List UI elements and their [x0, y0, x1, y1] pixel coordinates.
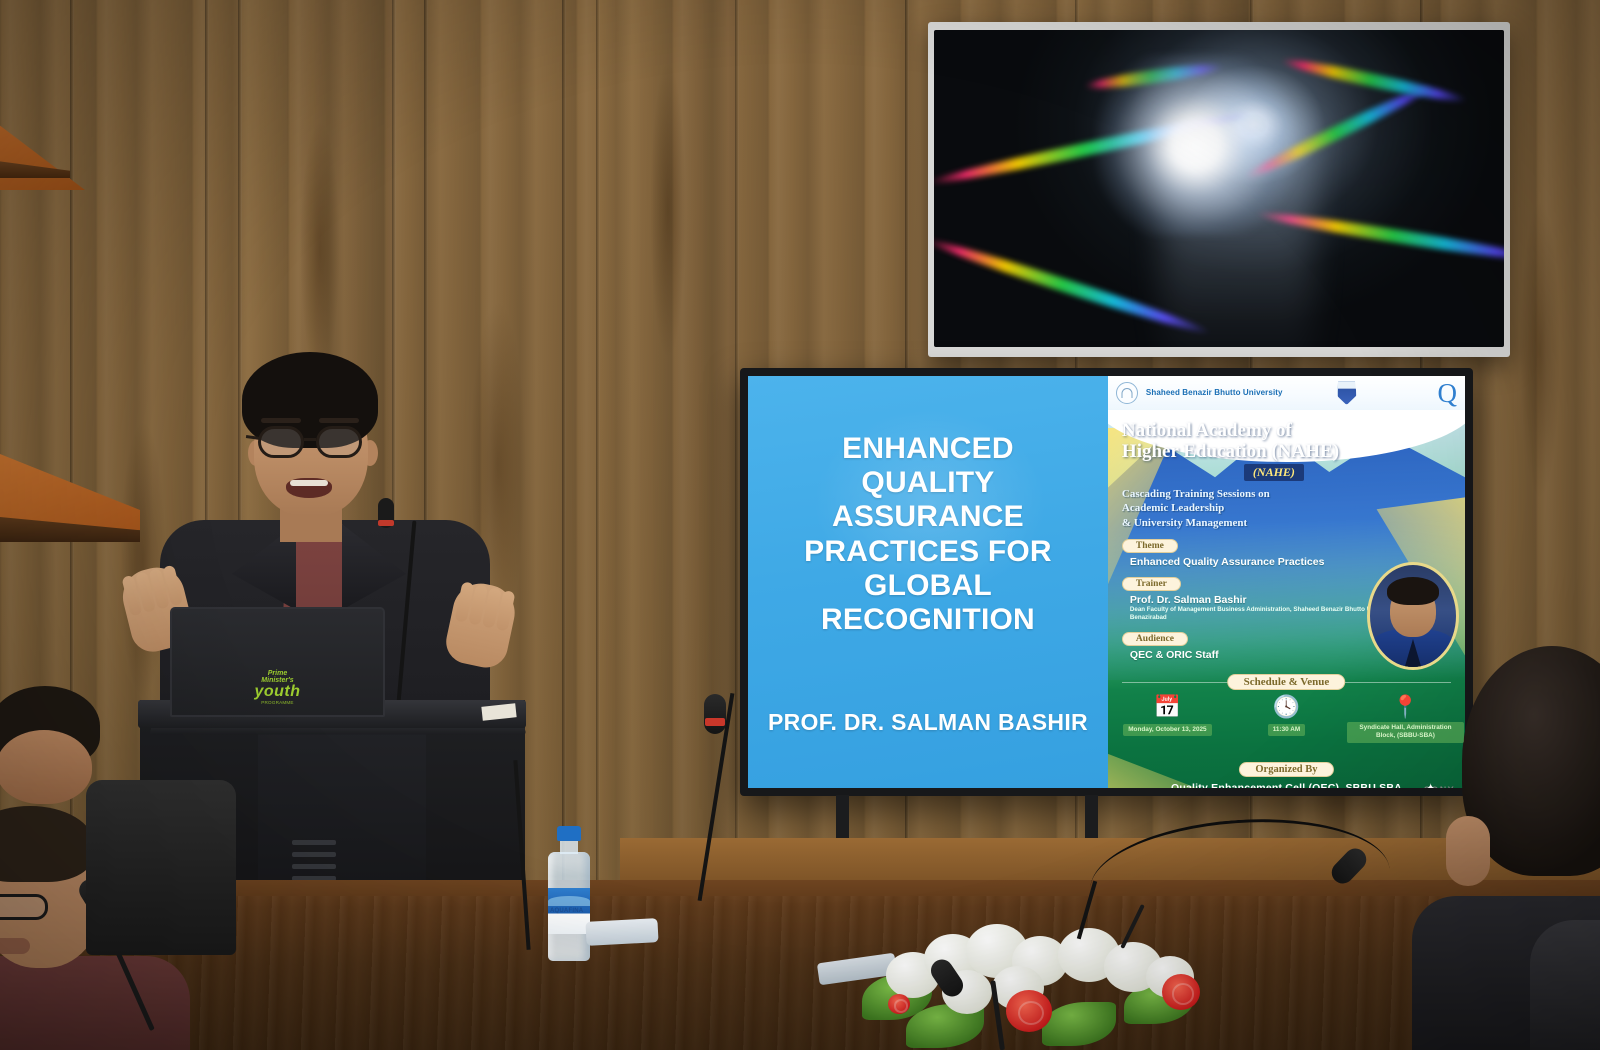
presentation-display[interactable]: ENHANCED QUALITY ASSURANCE PRACTICES FOR… — [740, 368, 1473, 796]
red-rose — [888, 994, 910, 1014]
calendar-icon: 📅 — [1109, 696, 1227, 718]
schedule-time-text: 11:30 AM — [1268, 724, 1305, 736]
light-glare — [1096, 55, 1296, 235]
red-rose — [1162, 974, 1200, 1010]
table-microphone-ring — [705, 718, 725, 726]
schedule-date-item: 📅 Monday, October 13, 2025 — [1109, 696, 1227, 736]
red-rose — [1006, 990, 1052, 1032]
poster-section-label-theme: Theme — [1122, 539, 1178, 553]
lens-flare-streak — [1280, 54, 1469, 106]
schedule-time-item: 🕓 11:30 AM — [1228, 696, 1346, 736]
poster-subtitle-line: & University Management — [1122, 516, 1455, 531]
tv-screen — [934, 30, 1504, 347]
slide-title-line: GLOBAL — [854, 569, 1002, 603]
speaker-mouth — [286, 478, 332, 498]
sparkle-icon: ✦ — [1424, 780, 1437, 788]
poster-subtitle-line: Academic Leadership — [1122, 501, 1455, 516]
logo-line3: youth — [254, 684, 300, 700]
bottle-brand-text: AQUAFINA — [550, 908, 583, 914]
location-pin-icon: 📍 — [1347, 696, 1465, 718]
slide-presenter-name: PROF. DR. SALMAN BASHIR — [748, 709, 1108, 736]
bottle-cap — [557, 826, 581, 841]
attendee-right-edge — [1530, 900, 1600, 1050]
remote-control[interactable] — [585, 918, 658, 946]
attendee-hand — [1446, 816, 1490, 886]
poster-title-line1: National Academy of — [1122, 420, 1455, 441]
logo-line4: PROGRAMME — [254, 700, 300, 705]
podium-microphone-ring — [378, 520, 394, 526]
clock-icon: 🕓 — [1228, 696, 1346, 718]
logo-line1: Prime — [254, 670, 300, 677]
table-microphone-head — [704, 694, 726, 734]
poster-schedule-heading: Schedule & Venue — [1228, 674, 1346, 690]
poster-acronym-pill: (NAHE) — [1244, 464, 1304, 481]
eyeglasses-icon — [258, 426, 304, 458]
poster-subtitle-line: Cascading Training Sessions on — [1122, 487, 1455, 502]
event-poster-panel: Shaheed Benazir Bhutto University Q Nati… — [1108, 376, 1465, 788]
poster-organized-by-value: Quality Enhancement Cell (QEC), SBBU SBA — [1108, 782, 1465, 788]
eyeglasses-icon — [0, 894, 48, 920]
poster-organized-by-label: Organized By — [1239, 762, 1333, 777]
poster-section-label-audience: Audience — [1122, 632, 1188, 646]
eyeglasses-icon — [316, 426, 362, 458]
water-bottle[interactable]: AQUAFINA — [548, 826, 590, 961]
office-chair-back — [86, 780, 236, 955]
poster-schedule-row: 📅 Monday, October 13, 2025 🕓 11:30 AM 📍 … — [1108, 696, 1465, 743]
slide-title-line: RECOGNITION — [811, 603, 1045, 637]
laptop-lid[interactable]: Prime Minister's youth PROGRAMME — [170, 607, 385, 717]
schedule-venue-text: Syndicate Hall, Administration Block, (S… — [1347, 722, 1465, 743]
slide-title-line: ENHANCED — [832, 432, 1024, 466]
bottle-label: AQUAFINA — [548, 888, 590, 934]
poster-section-label-trainer: Trainer — [1122, 577, 1181, 591]
schedule-date-text: Monday, October 13, 2025 — [1123, 724, 1211, 736]
trainer-portrait-photo — [1367, 562, 1459, 670]
schedule-venue-item: 📍 Syndicate Hall, Administration Block, … — [1347, 696, 1465, 743]
poster-title-line2: Higher Education (NAHE) — [1122, 441, 1455, 462]
slide-title-line: ASSURANCE — [822, 500, 1034, 534]
slide-title-line: QUALITY — [851, 466, 1004, 500]
prime-minister-youth-logo: Prime Minister's youth PROGRAMME — [254, 670, 300, 705]
slide-title-line: PRACTICES FOR — [794, 535, 1062, 569]
wall-mounted-tv[interactable] — [928, 22, 1510, 357]
slide-panel: ENHANCED QUALITY ASSURANCE PRACTICES FOR… — [748, 376, 1108, 788]
conference-hall-scene: ENHANCED QUALITY ASSURANCE PRACTICES FOR… — [0, 0, 1600, 1050]
